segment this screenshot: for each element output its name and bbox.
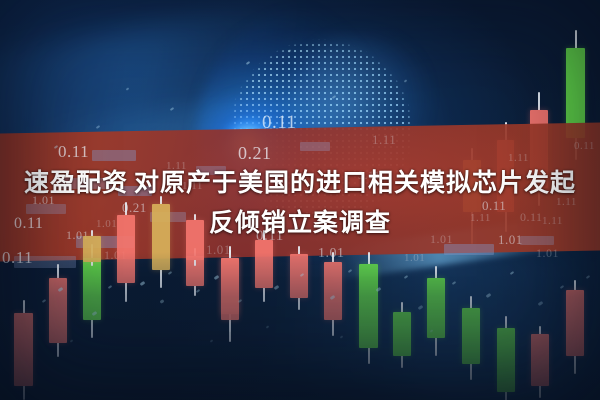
candlestick-body	[221, 258, 239, 320]
news-banner-image: 0.111.111.010.111.010.111.010.211.010.11…	[0, 0, 600, 400]
headline-line-2: 反倾销立案调查	[0, 203, 600, 243]
headline-line-1-rest: 对原产于美国的进口相关模拟芯片发起	[134, 169, 576, 197]
candlestick-body	[393, 312, 411, 356]
candlestick-body	[462, 308, 480, 364]
candlestick-body	[497, 328, 515, 392]
candlestick-body	[324, 262, 342, 320]
headline-line-1: 速盈配资对原产于美国的进口相关模拟芯片发起	[24, 169, 576, 197]
candlestick-body	[427, 278, 445, 338]
candlestick-body	[14, 313, 33, 386]
candlestick-body	[255, 240, 273, 288]
candlestick-body	[531, 334, 549, 386]
headline-text: 速盈配资对原产于美国的进口相关模拟芯片发起 反倾销立案调查	[0, 163, 600, 243]
brand-name: 速盈配资	[24, 169, 128, 197]
candlestick-body	[49, 278, 67, 343]
candlestick-body	[359, 264, 378, 348]
candlestick-body	[290, 254, 308, 298]
candlestick-body	[566, 290, 584, 356]
